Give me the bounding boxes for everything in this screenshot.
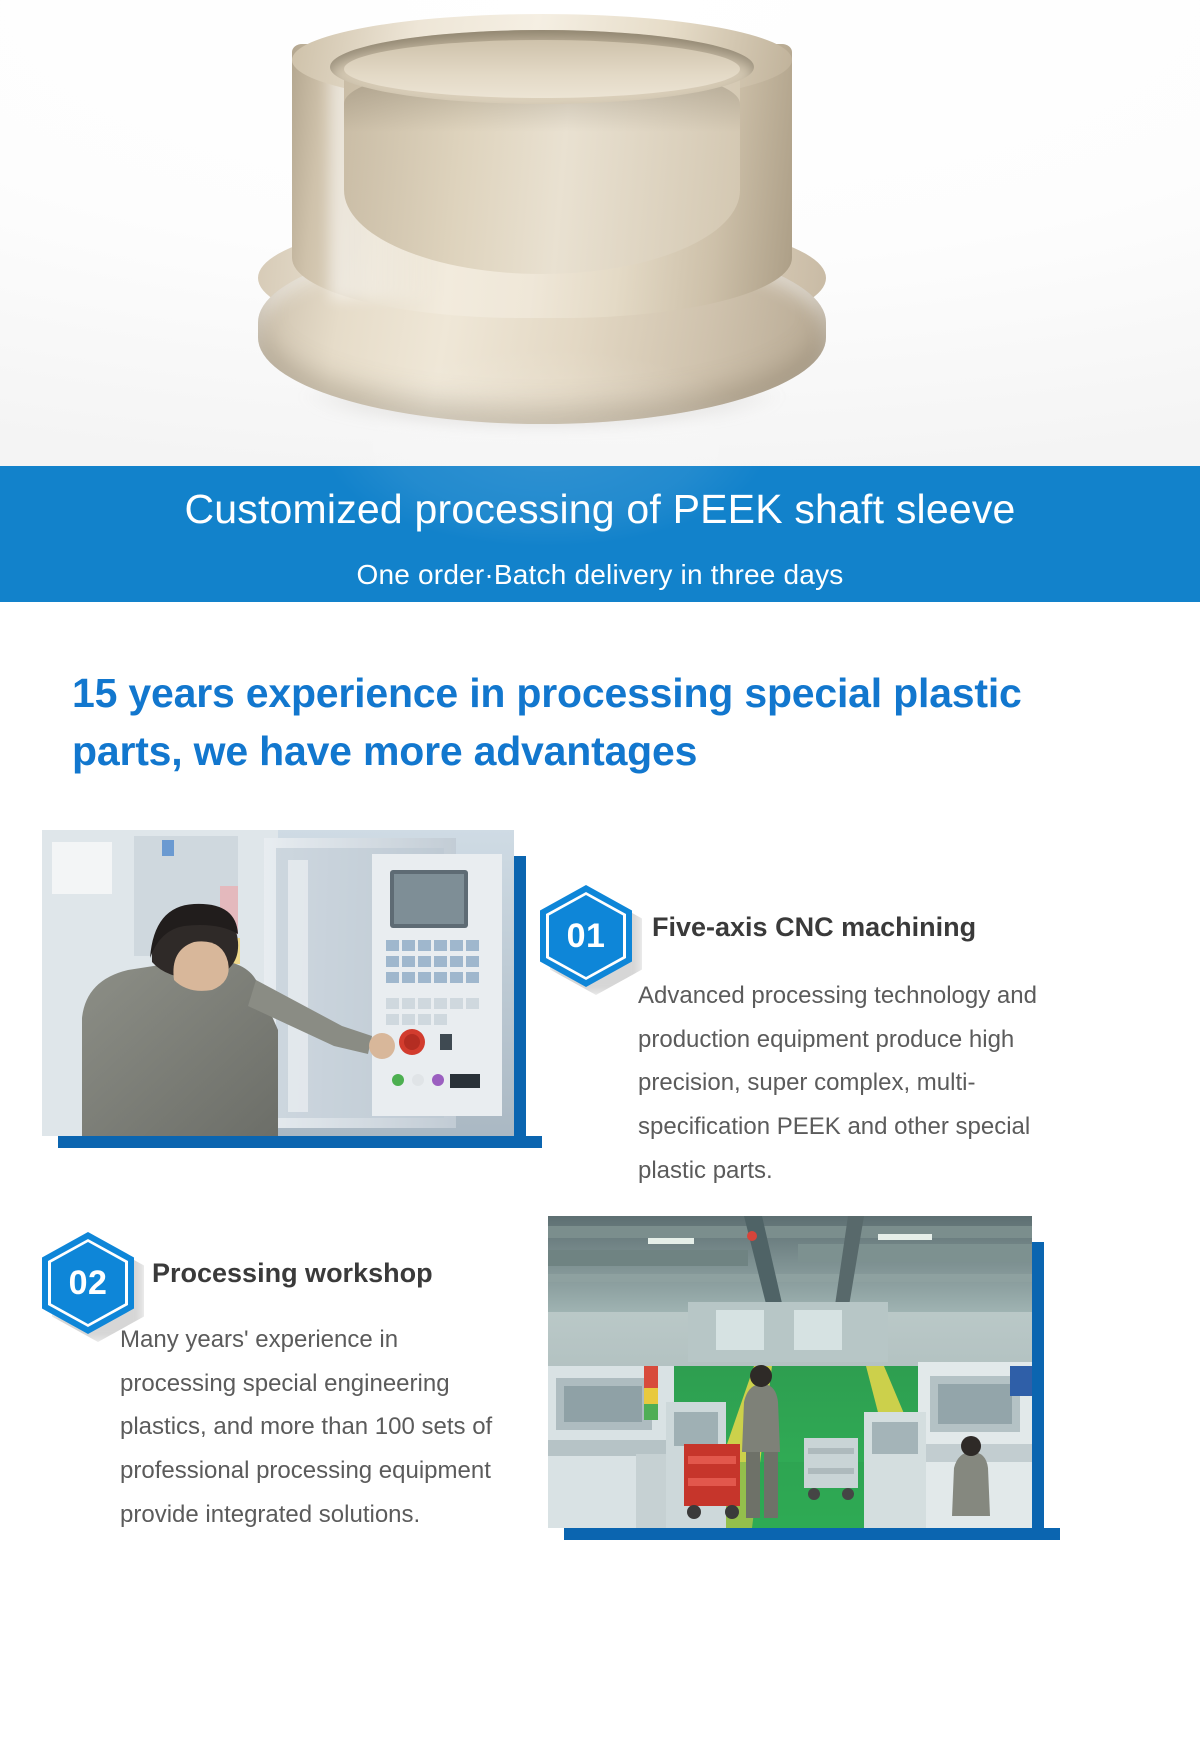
feature-02-title: Processing workshop: [152, 1260, 433, 1287]
feature-02-body: Many years' experience in processing spe…: [120, 1318, 520, 1536]
feature-01-title: Five-axis CNC machining: [652, 914, 976, 941]
product-marketing-page: Customized processing of PEEK shaft slee…: [0, 0, 1200, 1760]
feature-01-badge: 01: [540, 885, 632, 987]
feature-01-photo: [42, 830, 514, 1136]
page-headline: 15 years experience in processing specia…: [72, 664, 1082, 780]
product-bore-inner: [344, 40, 740, 98]
hero-section: Customized processing of PEEK shaft slee…: [0, 0, 1200, 602]
feature-02-photo: [548, 1216, 1032, 1528]
banner-subtitle: One order·Batch delivery in three days: [357, 561, 844, 589]
feature-01-body: Advanced processing technology and produ…: [638, 974, 1068, 1192]
hero-banner: Customized processing of PEEK shaft slee…: [0, 466, 1200, 602]
feature-02-number: 02: [69, 1266, 108, 1300]
banner-title: Customized processing of PEEK shaft slee…: [184, 489, 1015, 530]
feature-01-frame-bar-bottom: [58, 1136, 542, 1148]
feature-01-photo-frame: [42, 830, 526, 1148]
feature-02-photo-frame: [548, 1216, 1044, 1540]
feature-02-frame-bar-bottom: [564, 1528, 1060, 1540]
feature-01-number: 01: [567, 919, 606, 953]
feature-01-frame-bar-right: [514, 856, 526, 1148]
feature-02-frame-bar-right: [1032, 1242, 1044, 1540]
